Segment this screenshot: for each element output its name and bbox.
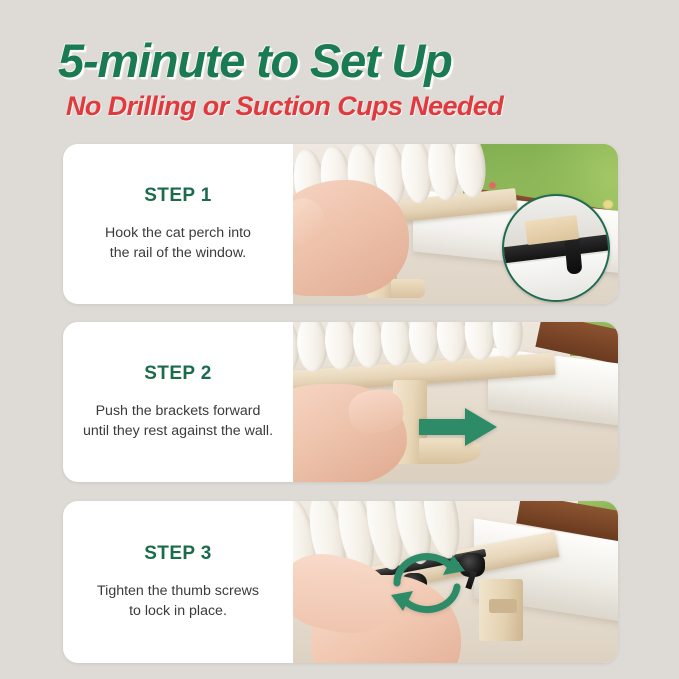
step-3-heading: STEP 3 [144,543,212,565]
step-1-description: Hook the cat perch into the rail of the … [105,223,251,263]
step-1-photo [293,144,618,304]
step-card-1: STEP 1 Hook the cat perch into the rail … [63,144,618,304]
inset-hook-bracket [565,239,583,274]
step-3-photo [293,501,618,663]
step-card-2: STEP 2 Push the brackets forward until t… [63,322,618,482]
step-3-text-panel: STEP 3 Tighten the thumb screws to lock … [63,501,293,663]
header-banner: 5-minute to Set Up No Drilling or Suctio… [0,0,679,132]
step-2-description: Push the brackets forward until they res… [83,401,273,441]
step-2-heading: STEP 2 [144,363,212,385]
step-2-photo [293,322,618,482]
page-subtitle: No Drilling or Suction Cups Needed [66,91,503,122]
step-1-heading: STEP 1 [144,185,212,207]
hand-1 [293,180,409,296]
page-title: 5-minute to Set Up [58,33,452,88]
step-card-3: STEP 3 Tighten the thumb screws to lock … [63,501,618,663]
step-1-text-panel: STEP 1 Hook the cat perch into the rail … [63,144,293,304]
step-2-text-panel: STEP 2 Push the brackets forward until t… [63,322,293,482]
step-3-description: Tighten the thumb screws to lock in plac… [97,581,259,621]
inset-detail-circle-1 [502,194,610,302]
rotation-arrows-icon [385,543,475,615]
thumb-1 [293,193,331,249]
push-direction-arrow-icon [419,406,497,448]
bracket-notch-3 [489,599,517,613]
